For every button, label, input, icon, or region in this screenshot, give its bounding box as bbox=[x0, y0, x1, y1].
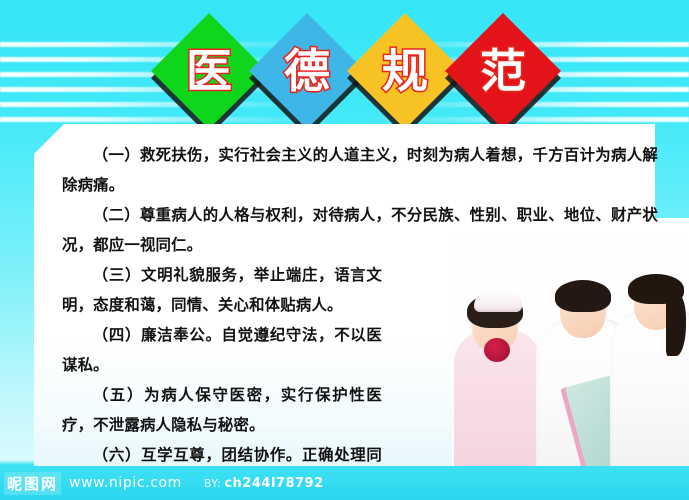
clause-item: （四）廉洁奉公。自觉遵纪守法，不以医谋私。 bbox=[62, 320, 382, 380]
ethics-clause-list: （一）救死扶伤，实行社会主义的人道主义，时刻为病人着想，千方百计为病人解除病痛。… bbox=[62, 140, 658, 460]
by-label: BY: bbox=[204, 477, 221, 490]
poster-title: 医 德 规 范 bbox=[168, 24, 528, 122]
doctor-hair-side bbox=[666, 294, 686, 356]
title-diamond-4 bbox=[445, 13, 561, 129]
clause-item: （二）尊重病人的人格与权利，对待病人，不分民族、性别、职业、地位、财产状况，都应… bbox=[62, 200, 658, 260]
uploader-username: ch244l78792 bbox=[224, 476, 323, 491]
clause-item: （一）救死扶伤，实行社会主义的人道主义，时刻为病人着想，千方百计为病人解除病痛。 bbox=[62, 140, 658, 200]
watermark-bar: 昵图网 www.nipic.com BY: ch244l78792 bbox=[0, 466, 689, 500]
clause-item: （三）文明礼貌服务，举止端庄，语言文明，态度和蔼，同情、关心和体贴病人。 bbox=[62, 260, 382, 320]
poster-canvas: 医 德 规 范 （一）救死扶伤，实行社会主义的人道主义，时刻为 bbox=[0, 0, 689, 500]
clause-item: （五）为病人保守医密，实行保护性医疗，不泄露病人隐私与秘密。 bbox=[62, 380, 382, 440]
nipic-logo: 昵图网 bbox=[4, 472, 61, 495]
nipic-url: www.nipic.com bbox=[69, 475, 182, 491]
